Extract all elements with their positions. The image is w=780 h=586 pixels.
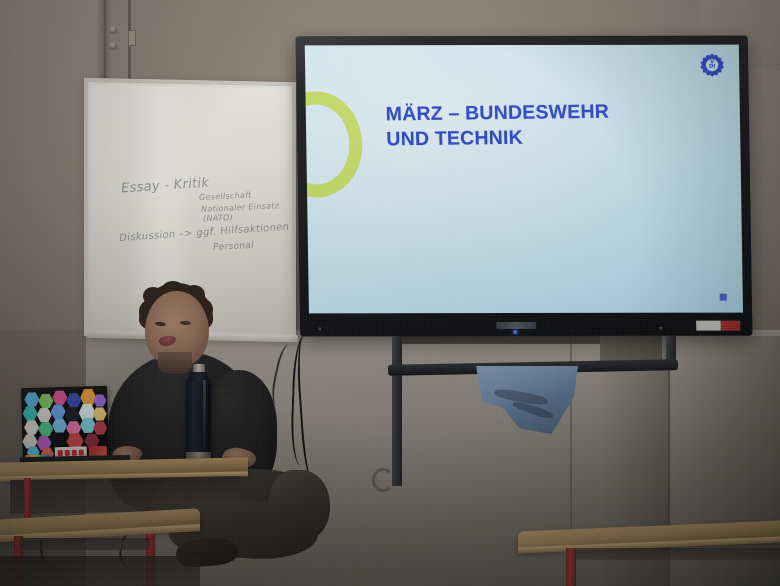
back-desk-underside xyxy=(10,476,240,514)
laptop-sticker xyxy=(93,407,107,421)
front-desk-underside xyxy=(20,538,150,550)
display-ir-sensor-icon xyxy=(318,327,321,330)
display-asset-sticker xyxy=(696,321,740,331)
laptop-sticker xyxy=(24,392,39,407)
whiteboard-note-line: Gesellschaft xyxy=(199,190,252,202)
laptop-sticker-dot xyxy=(79,449,84,455)
right-desk-leg xyxy=(566,548,576,586)
right-desk-underside xyxy=(576,548,780,560)
laptop-sticker xyxy=(93,421,107,435)
vdi-gear-logo-icon: V DI xyxy=(699,53,725,79)
laptop[interactable] xyxy=(21,386,109,462)
slide-title-line1: MÄRZ – BUNDESWEHR xyxy=(385,100,609,128)
presenter-neck xyxy=(158,352,192,374)
laptop-sticker xyxy=(24,420,39,435)
laptop-sticker xyxy=(50,432,65,447)
interactive-display[interactable]: V DI MÄRZ – BUNDESWEHR UND TECHNIK xyxy=(296,36,753,337)
slide-title: MÄRZ – BUNDESWEHR UND TECHNIK xyxy=(385,100,610,153)
slide-page-marker xyxy=(720,294,727,301)
laptop-sticker xyxy=(52,390,67,405)
whiteboard-note-line: Personal xyxy=(213,241,255,253)
laptop-sticker xyxy=(50,404,65,419)
svg-text:DI: DI xyxy=(709,64,715,70)
whiteboard-note-line: Nationaler Einsatz xyxy=(201,201,280,214)
presenter-knee xyxy=(268,470,330,540)
display-brand-logo-icon xyxy=(496,322,536,329)
water-bottle[interactable] xyxy=(186,378,211,462)
laptop-sticker xyxy=(38,393,53,408)
laptop-sticker xyxy=(22,406,37,421)
door-latch-icon xyxy=(128,30,136,46)
whiteboard-note-line: (NATO) xyxy=(203,213,234,223)
wall-hook-icon xyxy=(110,42,117,49)
display-ir-sensor-icon xyxy=(659,327,662,330)
laptop-sticker xyxy=(38,421,53,436)
laptop-sticker xyxy=(80,388,96,406)
slide-title-line2: UND TECHNIK xyxy=(386,125,610,153)
display-screen[interactable]: V DI MÄRZ – BUNDESWEHR UND TECHNIK xyxy=(305,45,743,314)
laptop-sticker xyxy=(37,407,52,422)
floor-shadow xyxy=(0,556,200,586)
laptop-sticker xyxy=(65,407,80,422)
laptop-sticker xyxy=(52,418,67,433)
photo-scene: Essay - Kritik Gesellschaft Nationaler E… xyxy=(0,0,780,586)
bottle-cap-icon[interactable] xyxy=(193,364,205,372)
laptop-sticker xyxy=(66,393,81,408)
laptop-sticker-dot xyxy=(72,450,77,456)
display-power-led-icon xyxy=(513,330,517,334)
wall-hook-icon xyxy=(110,26,117,33)
display-stand-column xyxy=(392,336,402,486)
laptop-sticker-dot xyxy=(65,450,70,456)
display-stand-base xyxy=(372,468,394,492)
bottle-highlight xyxy=(203,380,206,452)
